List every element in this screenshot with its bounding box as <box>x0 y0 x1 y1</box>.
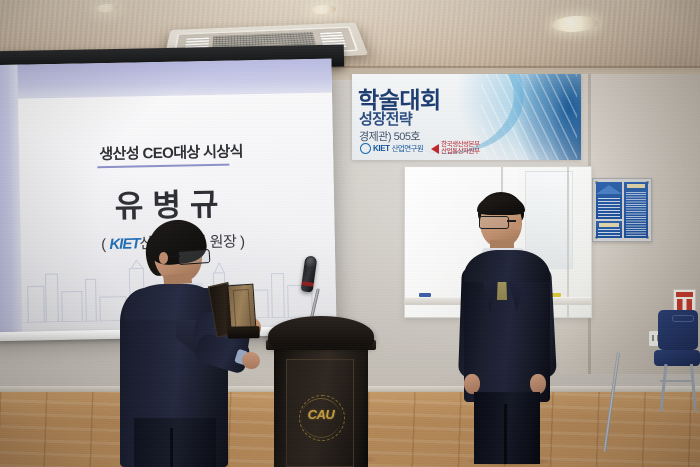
poster-notice <box>596 221 622 238</box>
partner-logo-text: 한국생산성본부 산업통상자원부 <box>441 142 479 156</box>
whiteboard-marker <box>419 293 431 297</box>
cau-emblem: CAU <box>299 395 343 439</box>
chair-handle <box>672 315 694 322</box>
chair-cross-bar <box>660 380 694 382</box>
chair-leg <box>690 364 697 412</box>
poster-text-lines <box>598 196 620 217</box>
whiteboard-seam <box>567 167 569 317</box>
glasses-icon <box>178 249 211 265</box>
microphone-indicator-band <box>301 281 313 287</box>
poster-triangle-icon <box>596 185 622 194</box>
kiet-circle-icon <box>360 143 371 154</box>
microphone-capsule <box>305 256 316 268</box>
chair-backrest <box>658 310 698 350</box>
glasses-icon <box>479 216 509 229</box>
trousers <box>134 418 216 467</box>
ear <box>159 252 168 264</box>
partner-logo: 한국생산성본부 산업통상자원부 <box>431 142 479 156</box>
poster-diagram <box>596 182 622 219</box>
trouser-seam <box>170 428 173 467</box>
kiet-logo: KIET 산업연구원 <box>360 143 423 154</box>
award-plaque-case <box>210 282 258 337</box>
banner-logo-row: KIET 산업연구원 한국생산성본부 산업통상자원부 <box>360 142 480 155</box>
blue-stacking-chair <box>654 310 700 415</box>
person-awardee-right <box>452 192 564 467</box>
lectern-podium: CAU <box>272 316 370 467</box>
banner-right-line2: 성장전략 <box>359 108 412 129</box>
kiet-logo-text: KIET <box>373 144 390 153</box>
poster-text-lines <box>626 191 646 236</box>
board-inner <box>596 182 648 238</box>
poster-heading-bar <box>627 184 645 188</box>
hand-left <box>464 374 480 394</box>
poster-text-lines <box>598 227 620 236</box>
shoulders <box>464 250 550 282</box>
sign-header-bar <box>676 292 693 297</box>
partner-arrow-icon <box>431 144 439 154</box>
board-left-column <box>596 182 622 238</box>
trouser-seam <box>504 404 507 464</box>
blue-information-poster-board <box>592 178 652 242</box>
trousers <box>474 392 540 464</box>
poster-schedule <box>624 182 648 238</box>
plaque-case-base <box>228 326 260 339</box>
emblem-text: CAU <box>299 407 343 422</box>
chair-seat <box>654 350 700 366</box>
kiet-logo-subtext: 산업연구원 <box>392 143 424 154</box>
person-presenter-left <box>120 222 262 467</box>
conference-banner-right: 학술대회 성장전략 경제관) 505호 KIET 산업연구원 한국생산성본부 산… <box>352 74 581 160</box>
podium-body: CAU <box>274 349 368 467</box>
podium-top-surface <box>268 316 374 346</box>
photo-scene: 학술대회 성장전략 경제관) 505호 KIET 산업연구원 한국생산성본부 산… <box>0 0 700 467</box>
chair-leg <box>659 364 667 412</box>
hand-right <box>530 374 546 394</box>
